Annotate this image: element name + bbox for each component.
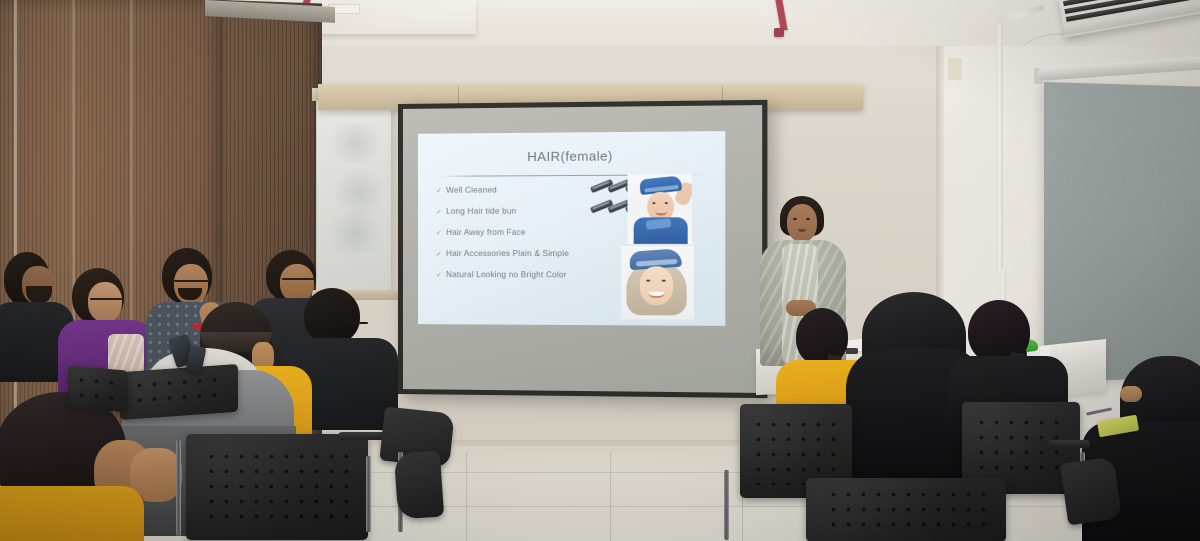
bullet-text: Long Hair tide bun [446,207,516,216]
chair-tablet-arm[interactable] [394,450,444,519]
chair-back [120,364,238,420]
chair-back [806,478,1006,541]
checkmark-icon: ✓ [436,208,442,216]
chair-tablet-arm[interactable] [1060,457,1122,526]
classroom-presentation-photo: HAIR(female) ✓ Well Cleaned ✓ Long Hair … [0,0,1200,541]
checkmark-icon: ✓ [436,250,442,258]
chair-leg [366,456,371,532]
projected-slide: HAIR(female) ✓ Well Cleaned ✓ Long Hair … [418,131,725,326]
bullet-text: Well Cleaned [446,186,497,195]
bullet-text: Hair Away from Face [446,228,526,237]
projection-screen: HAIR(female) ✓ Well Cleaned ✓ Long Hair … [398,100,767,398]
checkmark-icon: ✓ [436,229,442,237]
chair-back [186,434,368,540]
hand [1120,386,1142,402]
checkmark-icon: ✓ [436,187,442,195]
sprinkler-head-right-icon [774,28,784,37]
flight-attendant-photo-blue-pillbox-hat [621,246,694,320]
eyeglasses-icon [174,280,210,282]
wall-patch [948,58,962,80]
yellow-shirt [0,486,144,541]
chair-leg [176,440,181,536]
eyeglasses-icon [344,322,368,324]
bullet-text: Natural Looking no Bright Color [446,270,567,279]
list-item: ✓ Hair Away from Face [436,228,655,237]
eyeglasses-icon [90,298,122,300]
eyeglasses-icon [282,278,316,280]
bullet-text: Hair Accessories Plain & Simple [446,249,569,258]
slide-title: HAIR(female) [418,147,725,164]
flight-attendant-photo-blue-cap [627,174,691,244]
electrical-conduit-upper [996,24,1003,274]
checkmark-icon: ✓ [436,271,442,279]
chair-armrest [1048,440,1090,448]
roller-blind[interactable] [1044,82,1200,382]
chair-leg [724,470,729,540]
chair-back [68,365,128,412]
